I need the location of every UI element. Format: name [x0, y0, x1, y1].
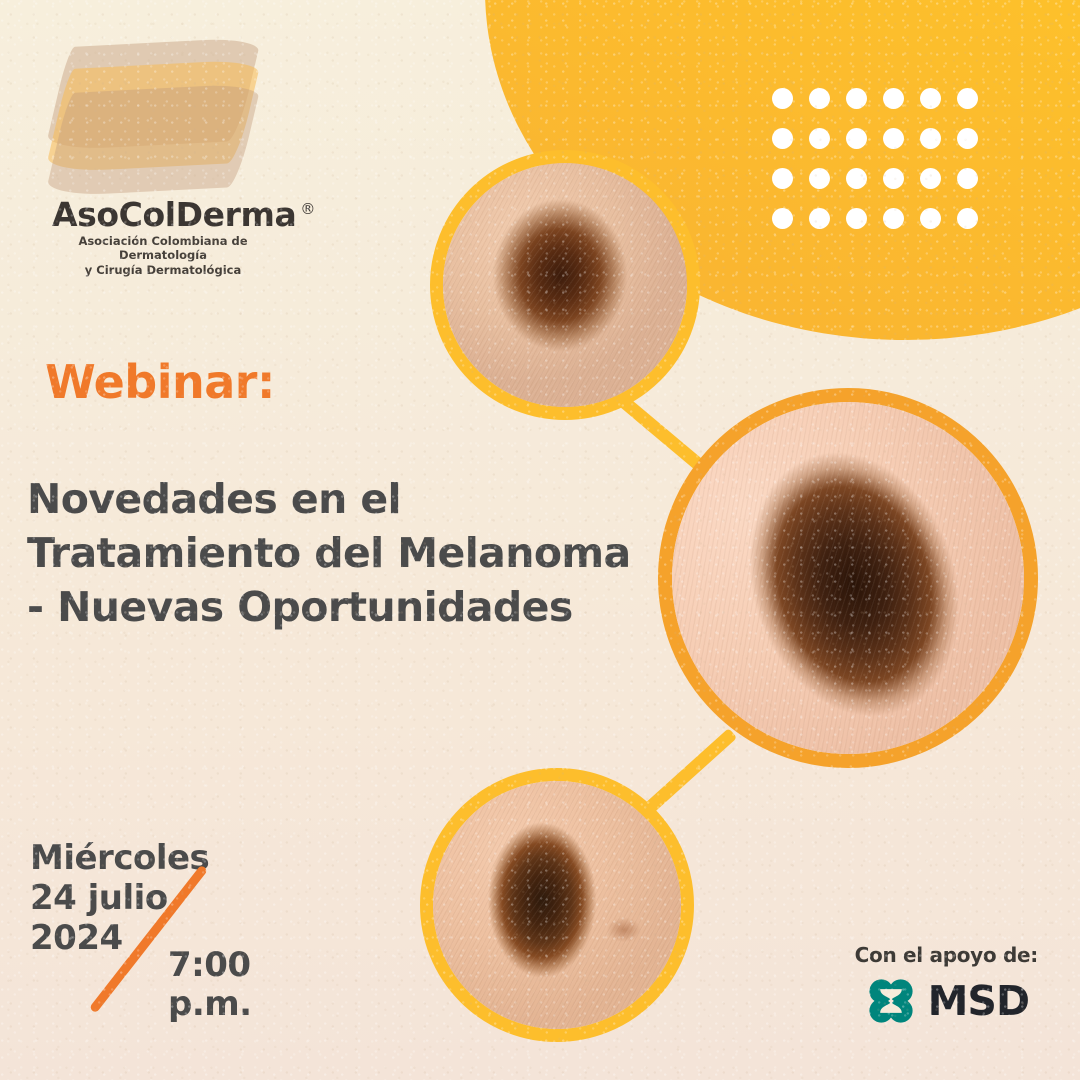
- page-title-line-1: Novedades en el: [27, 472, 667, 526]
- melanoma-photo-bottom: [420, 768, 694, 1042]
- logo-layer-bottom: [45, 83, 262, 197]
- page-title-line-3: - Nuevas Oportunidades: [27, 580, 667, 634]
- melanoma-photo-middle: [658, 388, 1038, 768]
- webinar-poster: AsoColDerma® Asociación Colombiana de De…: [0, 0, 1080, 1080]
- event-time-hour: 7:00: [168, 946, 252, 985]
- registered-trademark-icon: ®: [300, 200, 315, 218]
- msd-clover-icon: [864, 974, 918, 1028]
- logo-wordmark-text: AsoColDerma: [52, 195, 296, 234]
- sponsor-label: Con el apoyo de:: [855, 943, 1038, 967]
- skin-lesion-image-1: [443, 163, 687, 407]
- logo-subtitle-line-1: Asociación Colombiana de Dermatología: [54, 234, 272, 263]
- event-time-meridiem: p.m.: [168, 985, 252, 1024]
- skin-lesion-image-2: [658, 388, 1038, 768]
- asocolderma-logo: AsoColDerma® Asociación Colombiana de De…: [52, 38, 352, 277]
- skin-lesion-image-3: [433, 781, 681, 1029]
- msd-wordmark: MSD: [928, 981, 1029, 1022]
- page-title-line-2: Tratamiento del Melanoma: [27, 526, 667, 580]
- sponsor-block: Con el apoyo de: MSD: [855, 943, 1038, 1028]
- webinar-eyebrow: Webinar:: [45, 355, 275, 409]
- page-title: Novedades en el Tratamiento del Melanoma…: [27, 472, 667, 634]
- event-datetime: Miércoles 24 julio 2024 7:00 p.m.: [30, 838, 320, 1043]
- event-day-name: Miércoles: [30, 838, 209, 878]
- logo-subtitle-line-2: y Cirugía Dermatológica: [54, 263, 272, 277]
- event-time: 7:00 p.m.: [168, 946, 252, 1024]
- skin-layers-icon: [58, 38, 278, 198]
- msd-logo: MSD: [855, 974, 1038, 1028]
- logo-wordmark: AsoColDerma®: [52, 198, 315, 231]
- logo-subtitle: Asociación Colombiana de Dermatología y …: [54, 234, 272, 277]
- melanoma-photo-top: [430, 150, 700, 420]
